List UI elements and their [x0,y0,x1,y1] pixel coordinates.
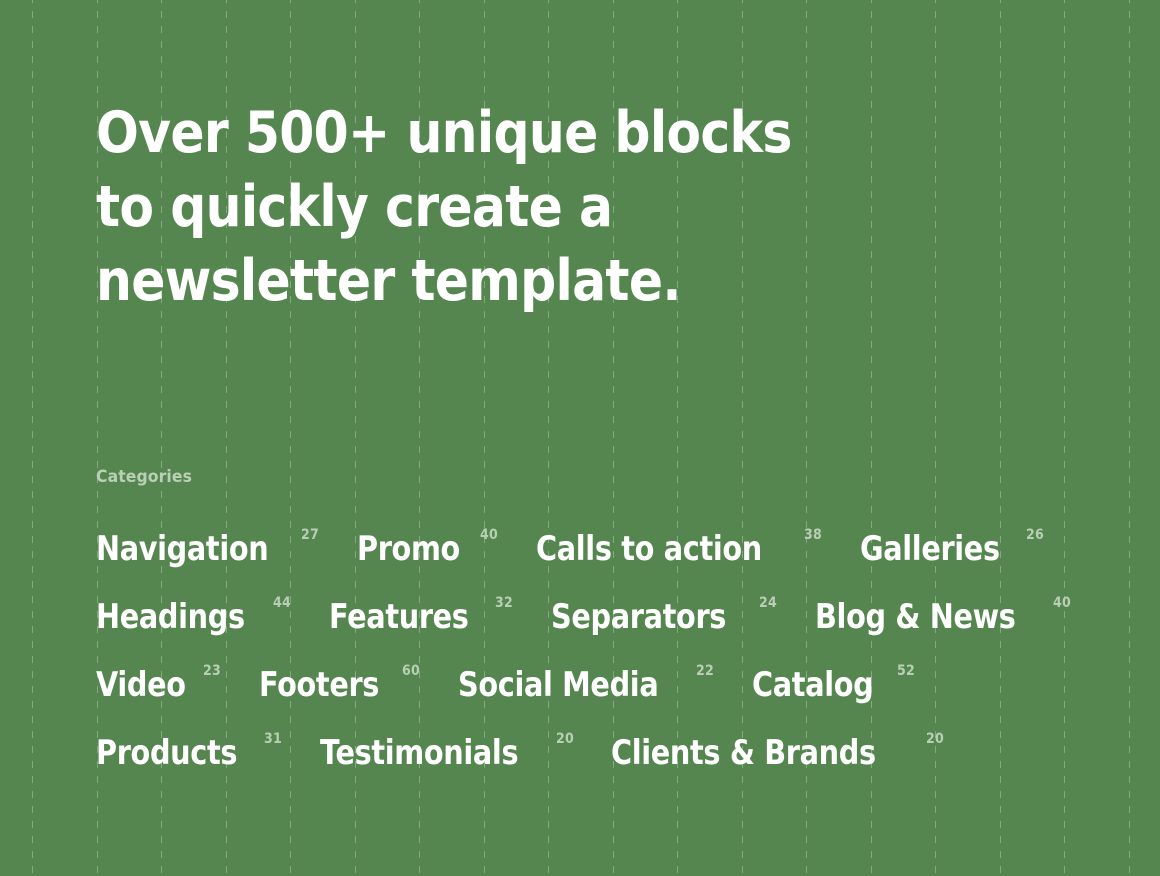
category-name: Features [329,594,469,640]
category-name: Clients & Brands [611,730,876,776]
categories-section: Categories Navigation27Promo40Calls to a… [96,466,1090,780]
category-name: Footers [259,662,379,708]
category-name: Separators [551,594,726,640]
category-count-badge: 31 [264,732,282,746]
poster-content: Over 500+ unique blocks to quickly creat… [0,0,1160,876]
category-item-testimonials[interactable]: Testimonials20 [320,730,575,776]
category-name: Galleries [860,526,1000,572]
category-count-badge: 60 [402,664,420,678]
category-count-badge: 40 [1053,596,1071,610]
category-item-separators[interactable]: Separators24 [551,594,779,640]
category-name: Blog & News [815,594,1016,640]
category-list: Navigation27Promo40Calls to action38Gall… [96,526,1090,780]
category-name: Calls to action [536,526,762,572]
category-item-features[interactable]: Features32 [329,594,515,640]
category-name: Video [96,662,186,708]
category-count-badge: 20 [556,732,574,746]
category-row: Video23Footers60Social Media22Catalog52 [96,662,1090,712]
category-row: Products31Testimonials20Clients & Brands… [96,730,1090,780]
category-item-navigation[interactable]: Navigation27 [96,526,321,572]
category-item-galleries[interactable]: Galleries26 [860,526,1046,572]
category-name: Catalog [752,662,873,708]
category-item-catalog[interactable]: Catalog52 [752,662,917,708]
category-count-badge: 40 [480,528,498,542]
category-item-headings[interactable]: Headings44 [96,594,293,640]
category-item-clients-and-brands[interactable]: Clients & Brands20 [611,730,945,776]
category-item-calls-to-action[interactable]: Calls to action38 [536,526,824,572]
page-title: Over 500+ unique blocks to quickly creat… [96,96,831,318]
category-count-badge: 23 [203,664,221,678]
category-count-badge: 44 [273,596,291,610]
category-count-badge: 52 [897,664,915,678]
category-item-social-media[interactable]: Social Media22 [458,662,716,708]
category-count-badge: 24 [759,596,777,610]
category-name: Headings [96,594,245,640]
category-row: Headings44Features32Separators24Blog & N… [96,594,1090,644]
category-count-badge: 22 [696,664,714,678]
category-item-products[interactable]: Products31 [96,730,284,776]
category-item-promo[interactable]: Promo40 [357,526,500,572]
category-name: Testimonials [320,730,518,776]
category-row: Navigation27Promo40Calls to action38Gall… [96,526,1090,576]
category-item-blog-and-news[interactable]: Blog & News40 [815,594,1073,640]
category-name: Promo [357,526,460,572]
category-name: Navigation [96,526,268,572]
category-count-badge: 20 [926,732,944,746]
category-item-footers[interactable]: Footers60 [259,662,422,708]
category-name: Products [96,730,237,776]
categories-label: Categories [96,466,1010,488]
category-count-badge: 27 [301,528,319,542]
poster-canvas: Over 500+ unique blocks to quickly creat… [0,0,1160,876]
category-count-badge: 32 [495,596,513,610]
category-name: Social Media [458,662,658,708]
category-item-video[interactable]: Video23 [96,662,223,708]
category-count-badge: 26 [1026,528,1044,542]
category-count-badge: 38 [804,528,822,542]
